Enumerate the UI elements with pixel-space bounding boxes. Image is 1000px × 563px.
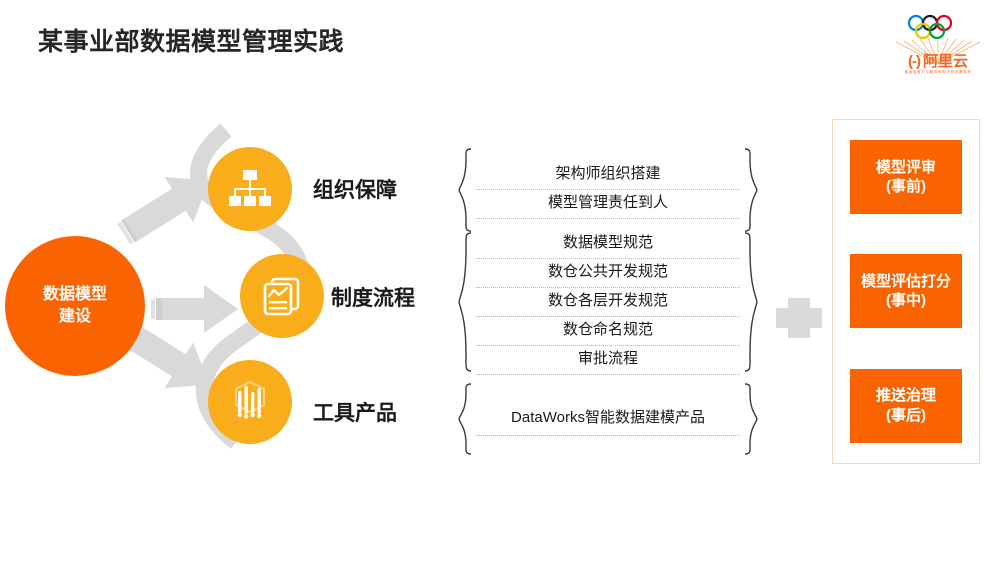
building-tools-icon bbox=[228, 379, 272, 425]
stage-phase: (事中) bbox=[886, 291, 926, 311]
center-topic-line2: 建设 bbox=[59, 306, 91, 328]
pillar-circle-process[interactable] bbox=[240, 254, 324, 338]
alibaba-cloud-logo: (-) 阿里云 奥运会官方云服务和电子商务服务商 bbox=[888, 14, 988, 78]
page-title: 某事业部数据模型管理实践 bbox=[38, 22, 344, 58]
stage-phase: (事后) bbox=[886, 406, 926, 426]
list-item: 数仓各层开发规范 bbox=[476, 288, 740, 317]
list-item: 模型管理责任到人 bbox=[476, 190, 740, 219]
list-item: 架构师组织搭建 bbox=[476, 161, 740, 190]
stage-phase: (事前) bbox=[886, 177, 926, 197]
list-item: 数据模型规范 bbox=[476, 230, 740, 259]
list-item: 数仓公共开发规范 bbox=[476, 259, 740, 288]
brace-group-organization: 架构师组织搭建 模型管理责任到人 bbox=[458, 148, 758, 232]
stage-title: 模型评审 bbox=[876, 158, 936, 178]
list-item: DataWorks智能数据建模产品 bbox=[476, 403, 740, 436]
arrow-to-organization bbox=[120, 165, 224, 243]
pillar-label-process: 制度流程 bbox=[331, 282, 415, 312]
center-topic-line1: 数据模型 bbox=[43, 284, 107, 306]
pillar-circle-tools[interactable] bbox=[208, 360, 292, 444]
governance-stages-panel: 模型评审 (事前) 模型评估打分 (事中) 推送治理 (事后) bbox=[832, 119, 980, 464]
brace-rows-tools: DataWorks智能数据建模产品 bbox=[476, 383, 740, 455]
stage-title: 推送治理 bbox=[876, 386, 936, 406]
slide-canvas: 某事业部数据模型管理实践 (-) 阿里云 奥运会官方云服务和电子商务服务商 bbox=[0, 0, 1000, 563]
center-topic-circle[interactable]: 数据模型 建设 bbox=[5, 236, 145, 376]
list-item: 审批流程 bbox=[476, 346, 740, 375]
cross-connector-shape bbox=[776, 298, 822, 338]
stage-box-push-governance[interactable]: 推送治理 (事后) bbox=[850, 369, 962, 443]
brace-rows-organization: 架构师组织搭建 模型管理责任到人 bbox=[476, 148, 740, 232]
brace-right-process bbox=[744, 232, 758, 372]
logo-wordmark: (-) 阿里云 bbox=[894, 54, 982, 69]
logo-mark-glyph: (-) bbox=[908, 54, 920, 69]
brace-left-tools bbox=[458, 383, 472, 455]
brace-right-organization bbox=[744, 148, 758, 232]
logo-brand-text: 阿里云 bbox=[923, 54, 968, 69]
brace-group-tools: DataWorks智能数据建模产品 bbox=[458, 383, 758, 455]
brace-left-organization bbox=[458, 148, 472, 232]
pillar-label-organization: 组织保障 bbox=[313, 174, 397, 204]
logo-subtitle: 奥运会官方云服务和电子商务服务商 bbox=[888, 70, 988, 75]
stage-box-pre-review[interactable]: 模型评审 (事前) bbox=[850, 140, 962, 214]
pillar-label-tools: 工具产品 bbox=[313, 397, 397, 427]
brace-group-process: 数据模型规范 数仓公共开发规范 数仓各层开发规范 数仓命名规范 审批流程 bbox=[458, 232, 758, 372]
stage-box-scoring[interactable]: 模型评估打分 (事中) bbox=[850, 254, 962, 328]
org-chart-icon bbox=[227, 168, 273, 210]
pillar-circle-organization[interactable] bbox=[208, 147, 292, 231]
stage-title: 模型评估打分 bbox=[861, 272, 951, 292]
brace-right-tools bbox=[744, 383, 758, 455]
document-report-icon bbox=[260, 274, 304, 318]
brace-rows-process: 数据模型规范 数仓公共开发规范 数仓各层开发规范 数仓命名规范 审批流程 bbox=[476, 232, 740, 372]
list-item: 数仓命名规范 bbox=[476, 317, 740, 346]
brace-left-process bbox=[458, 232, 472, 372]
cross-vertical-bar bbox=[788, 298, 810, 338]
